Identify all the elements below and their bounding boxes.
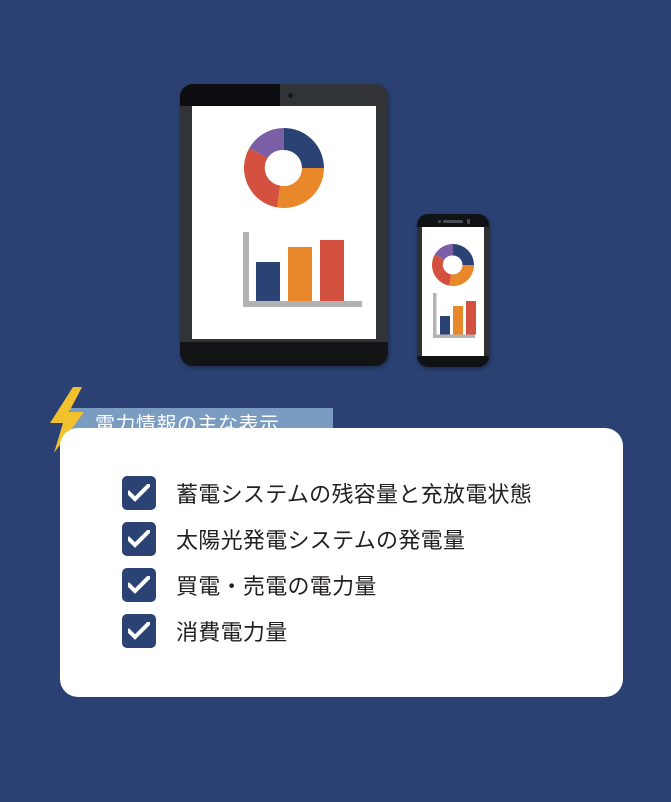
check-mark-icon[interactable] [122,614,156,648]
tablet-screen-charts [192,106,376,339]
list-item-label: 太陽光発電システムの発電量 [176,523,465,555]
devices-illustration [0,0,671,380]
list-item[interactable]: 蓄電システムの残容量と充放電状態 [122,470,532,516]
tablet-bottom-bezel [180,342,388,366]
info-card: 蓄電システムの残容量と充放電状態 太陽光発電システムの発電量 買電・売電の電力量… [60,428,623,697]
speaker-slot-icon [443,220,463,223]
feature-list: 蓄電システムの残容量と充放電状態 太陽光発電システムの発電量 買電・売電の電力量… [122,470,532,654]
tablet-bezel [180,84,280,106]
phone-bottom-bezel [417,356,489,367]
donut-chart-phone [432,244,474,286]
camera-dot-icon [288,93,293,98]
phone-camera-icon [467,219,470,224]
phone-screen [422,227,484,356]
check-mark-icon[interactable] [122,568,156,602]
list-item[interactable]: 太陽光発電システムの発電量 [122,516,532,562]
check-mark-icon[interactable] [122,476,156,510]
tablet-device [180,84,388,366]
check-mark-icon[interactable] [122,522,156,556]
donut-chart-tablet [244,128,324,208]
list-item-label: 蓄電システムの残容量と充放電状態 [176,477,532,509]
list-item[interactable]: 消費電力量 [122,608,532,654]
list-item-label: 消費電力量 [176,615,288,647]
tablet-screen [192,106,376,339]
bar-chart-tablet [243,232,362,307]
list-item[interactable]: 買電・売電の電力量 [122,562,532,608]
bar-chart-phone [433,293,476,338]
phone-sensor-icon [438,220,441,223]
smartphone-device [417,214,489,367]
list-item-label: 買電・売電の電力量 [176,569,377,601]
phone-screen-charts [422,227,484,356]
